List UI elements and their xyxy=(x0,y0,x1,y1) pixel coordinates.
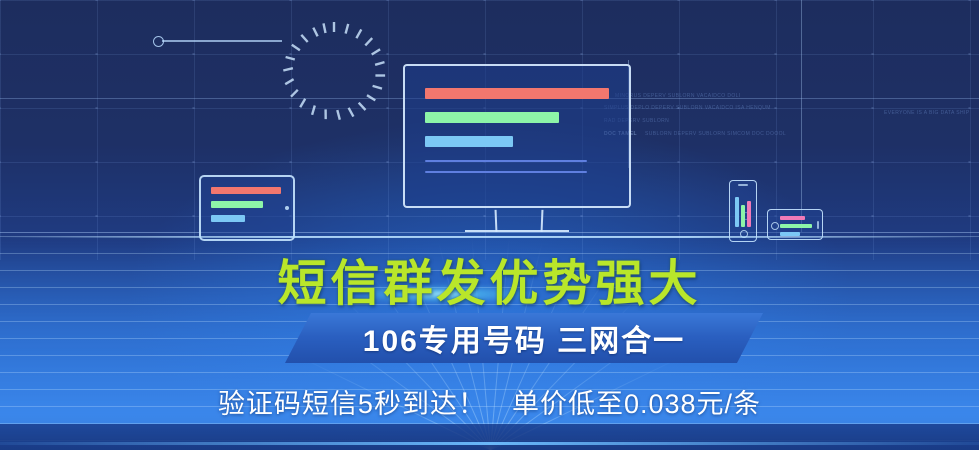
subline-left: 验证码短信5秒到达！ xyxy=(218,389,486,419)
monitor-illustration xyxy=(403,64,631,208)
node-wire xyxy=(162,40,282,42)
tablet-illustration xyxy=(199,175,295,241)
tablet-bar-green xyxy=(211,201,263,208)
phone-home-button-icon xyxy=(771,222,779,230)
decor-text-line: SUBLORN DEPERV SUBLORN SIMCOM DOC DOOOL xyxy=(645,131,786,137)
tablet-home-dot-icon xyxy=(285,206,289,210)
screen-line xyxy=(425,160,587,162)
screen-bar-cyan xyxy=(425,136,513,147)
monitor-screen xyxy=(403,64,631,208)
screen-bar-green xyxy=(425,112,559,123)
screen-line xyxy=(425,171,587,173)
feature-plate-text: 106专用号码 三网合一 xyxy=(285,313,763,363)
decor-text-line: MINORUS DEPERV SUBLORN VACAIDCO DOLI xyxy=(615,93,741,99)
monitor-stand-neck xyxy=(495,210,544,232)
radial-dial-decor-icon xyxy=(279,18,389,140)
tablet-bar-red xyxy=(211,187,281,194)
node-circle-icon xyxy=(153,36,164,47)
promo-banner: MINORUS DEPERV SUBLORN VACAIDCO DOLI SIM… xyxy=(0,0,979,450)
phone-bar-pink xyxy=(780,216,805,220)
phone-speaker-icon xyxy=(738,184,748,186)
phone-bar-pink xyxy=(747,201,751,227)
subline-right: 单价低至0.038元/条 xyxy=(512,389,761,419)
phone-speaker-icon xyxy=(817,221,819,229)
decor-text-right: EVERYONE IS A BIG DATA SHIP xyxy=(884,110,970,116)
grid-accent-line xyxy=(0,232,979,233)
bottom-bar xyxy=(0,424,979,450)
screen-bar-red xyxy=(425,88,609,99)
phone-bar-green xyxy=(780,224,812,228)
phone-vertical-illustration xyxy=(729,180,757,242)
grid-accent-line xyxy=(801,0,802,232)
phone-bar-cyan xyxy=(735,197,739,227)
headline: 短信群发优势强大 xyxy=(0,244,979,315)
monitor-stand-base xyxy=(465,230,569,232)
subline: 验证码短信5秒到达！单价低至0.038元/条 xyxy=(0,382,979,421)
phone-bar-green xyxy=(741,205,745,227)
tablet-bar-cyan xyxy=(211,215,245,222)
